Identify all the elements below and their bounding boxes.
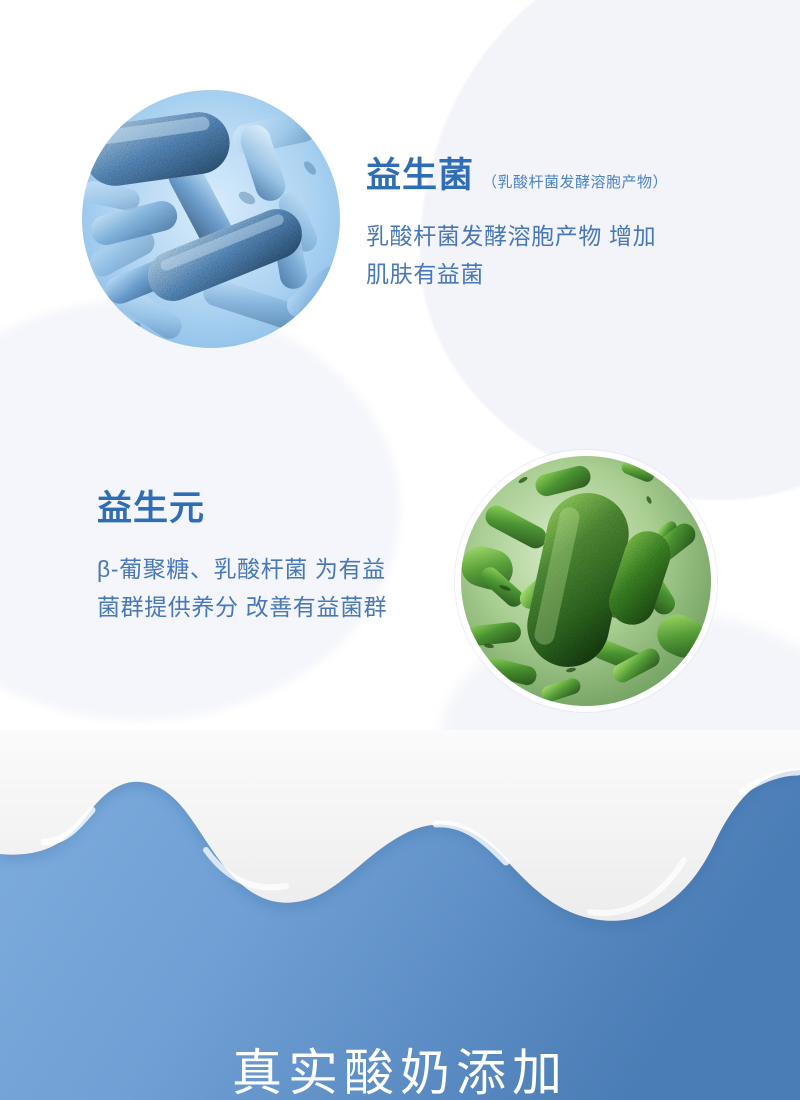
probiotic-heading-row: 益生菌 （乳酸杆菌发酵溶胞产物） <box>366 156 786 196</box>
prebiotic-heading-row: 益生元 <box>97 489 497 529</box>
prebiotic-body-text: β-葡聚糖、乳酸杆菌 为有益 菌群提供养分 改善有益菌群 <box>97 551 497 626</box>
probiotic-body-line-2: 肌肤有益菌 <box>366 256 786 293</box>
product-detail-page: 益生菌 （乳酸杆菌发酵溶胞产物） 乳酸杆菌发酵溶胞产物 增加 肌肤有益菌 益生元… <box>0 0 800 1100</box>
probiotic-heading-note: （乳酸杆菌发酵溶胞产物） <box>482 171 668 192</box>
prebiotic-bacteria-photo <box>455 450 717 712</box>
probiotic-body-text: 乳酸杆菌发酵溶胞产物 增加 肌肤有益菌 <box>366 218 786 293</box>
prebiotic-body-line-1: β-葡聚糖、乳酸杆菌 为有益 <box>97 551 497 588</box>
probiotic-text-block: 益生菌 （乳酸杆菌发酵溶胞产物） 乳酸杆菌发酵溶胞产物 增加 肌肤有益菌 <box>366 156 786 293</box>
probiotic-body-line-1: 乳酸杆菌发酵溶胞产物 增加 <box>366 218 786 255</box>
prebiotic-text-block: 益生元 β-葡聚糖、乳酸杆菌 为有益 菌群提供养分 改善有益菌群 <box>97 489 497 626</box>
bottom-banner-title: 真实酸奶添加 <box>0 1046 800 1100</box>
probiotic-bacteria-photo <box>82 90 340 348</box>
prebiotic-heading: 益生元 <box>97 489 205 529</box>
probiotic-heading: 益生菌 <box>366 156 474 196</box>
prebiotic-body-line-2: 菌群提供养分 改善有益菌群 <box>97 589 497 626</box>
